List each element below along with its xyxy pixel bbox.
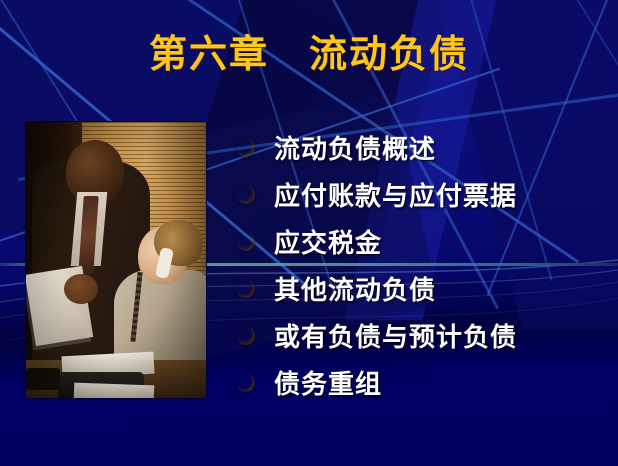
- list-item-label: 或有负债与预计负债: [274, 317, 517, 354]
- slide-title: 第六章 流动负债: [0, 34, 618, 76]
- gold-sphere-bullet-icon: [236, 279, 255, 298]
- gold-sphere-bullet-icon: [236, 232, 255, 251]
- presentation-slide: 第六章 流动负债 流动负债概述 应付账款与应付票据 应交税金 其他流动负债 或有…: [0, 0, 618, 466]
- list-item-label: 应交税金: [274, 223, 382, 260]
- list-item[interactable]: 应交税金: [236, 218, 618, 265]
- bullet-list: 流动负债概述 应付账款与应付票据 应交税金 其他流动负债 或有负债与预计负债 债…: [236, 124, 618, 406]
- list-item[interactable]: 流动负债概述: [236, 124, 618, 171]
- photo-vignette: [26, 122, 206, 398]
- list-item-label: 其他流动负债: [274, 270, 436, 307]
- list-item-label: 流动负债概述: [274, 129, 436, 166]
- list-item[interactable]: 其他流动负债: [236, 265, 618, 312]
- gold-sphere-bullet-icon: [236, 373, 255, 392]
- gold-sphere-bullet-icon: [236, 326, 255, 345]
- list-item[interactable]: 债务重组: [236, 359, 618, 406]
- gold-sphere-bullet-icon: [236, 185, 255, 204]
- list-item-label: 应付账款与应付票据: [274, 176, 517, 213]
- gold-sphere-bullet-icon: [236, 138, 255, 157]
- list-item[interactable]: 应付账款与应付票据: [236, 171, 618, 218]
- office-business-meeting-photo: [26, 122, 206, 398]
- list-item[interactable]: 或有负债与预计负债: [236, 312, 618, 359]
- list-item-label: 债务重组: [274, 364, 382, 401]
